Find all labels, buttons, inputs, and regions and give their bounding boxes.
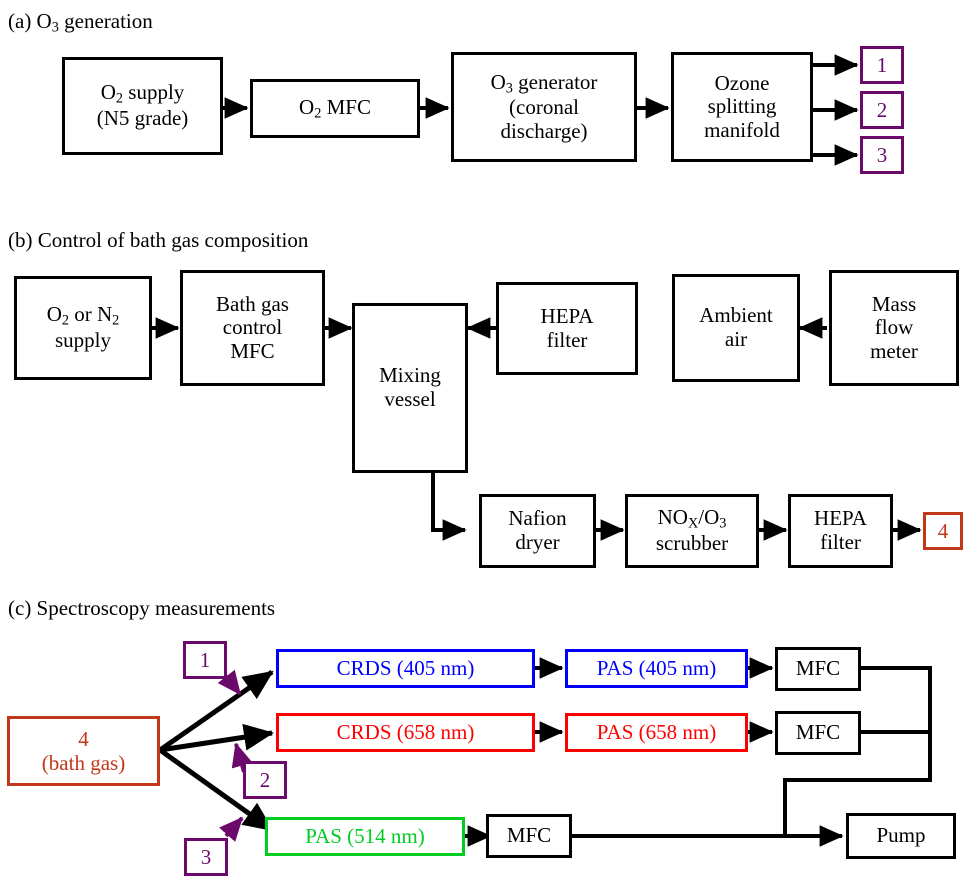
node-c-2-label: 2 (260, 768, 271, 793)
box-mass-flow-meter-label: Massflowmeter (835, 293, 953, 364)
box-nafion-dryer[interactable]: Nafiondryer (479, 494, 596, 568)
box-crds-405-label: CRDS (405 nm) (282, 657, 529, 681)
box-hepa-filter-2-label: HEPAfilter (794, 507, 887, 554)
node-a-3[interactable]: 3 (860, 136, 904, 174)
node-c-1[interactable]: 1 (183, 641, 227, 679)
box-bath-gas-source[interactable]: 4(bath gas) (7, 716, 160, 786)
box-o2-mfc[interactable]: O2 MFC (250, 79, 420, 138)
box-pump-label: Pump (852, 824, 950, 848)
node-injection-arrows (226, 676, 244, 836)
box-pas-405-label: PAS (405 nm) (571, 657, 742, 681)
box-bathgas-control-mfc[interactable]: Bath gascontrolMFC (180, 270, 325, 386)
box-mass-flow-meter[interactable]: Massflowmeter (829, 270, 959, 386)
exhaust-manifold-wires (570, 668, 930, 836)
source-split-arrows (160, 672, 272, 830)
node-b-4-label: 4 (938, 519, 949, 543)
box-mixing-vessel-label: Mixingvessel (358, 364, 462, 411)
box-mfc-658-label: MFC (781, 721, 855, 745)
box-pas-658[interactable]: PAS (658 nm) (565, 713, 748, 752)
box-ozone-splitting-manifold[interactable]: Ozonesplittingmanifold (671, 52, 813, 162)
node-c-3-label: 3 (201, 845, 212, 870)
box-o2-mfc-label: O2 MFC (256, 96, 414, 122)
node-c-3[interactable]: 3 (184, 838, 228, 876)
box-crds-658-label: CRDS (658 nm) (282, 721, 529, 745)
node-a-2-label: 2 (877, 98, 888, 123)
box-ambient-air[interactable]: Ambientair (672, 274, 800, 382)
figure-canvas: (a) O3 generation O2 supply(N5 grade) O2… (0, 0, 975, 884)
panel-a-manifold-outputs (813, 65, 857, 155)
box-pas-405[interactable]: PAS (405 nm) (565, 649, 748, 688)
box-pump[interactable]: Pump (846, 813, 956, 859)
box-o2-supply-label: O2 supply(N5 grade) (68, 81, 217, 130)
box-gas-supply[interactable]: O2 or N2supply (14, 276, 152, 380)
box-o3-generator-label: O3 generator(coronaldischarge) (457, 71, 631, 144)
box-o2-supply[interactable]: O2 supply(N5 grade) (62, 57, 223, 155)
box-bath-gas-source-label: 4(bath gas) (42, 727, 125, 775)
box-mfc-658[interactable]: MFC (775, 711, 861, 755)
node-a-1-label: 1 (877, 53, 888, 78)
node-b-4[interactable]: 4 (923, 512, 963, 550)
box-nafion-dryer-label: Nafiondryer (485, 507, 590, 554)
box-hepa-filter-1-label: HEPAfilter (502, 305, 632, 352)
box-crds-405[interactable]: CRDS (405 nm) (276, 649, 535, 688)
box-gas-supply-label: O2 or N2supply (20, 303, 146, 352)
box-pas-514-label: PAS (514 nm) (271, 825, 459, 849)
box-ambient-air-label: Ambientair (678, 304, 794, 351)
panel-c-row-arrows (465, 668, 772, 836)
node-c-1-label: 1 (200, 648, 211, 673)
box-mfc-405[interactable]: MFC (775, 647, 861, 691)
box-mfc-514[interactable]: MFC (486, 814, 572, 858)
box-crds-658[interactable]: CRDS (658 nm) (276, 713, 535, 752)
node-a-2[interactable]: 2 (860, 91, 904, 129)
box-nox-o3-scrubber[interactable]: NOX/O3scrubber (625, 494, 759, 568)
panel-b-title: (b) Control of bath gas composition (8, 230, 308, 251)
node-a-3-label: 3 (877, 143, 888, 168)
mixing-to-nafion-wire (433, 472, 455, 530)
box-hepa-filter-2[interactable]: HEPAfilter (788, 494, 893, 568)
node-a-1[interactable]: 1 (860, 46, 904, 84)
box-pas-514[interactable]: PAS (514 nm) (265, 817, 465, 856)
panel-a-title: (a) O3 generation (8, 11, 153, 35)
box-bathgas-control-mfc-label: Bath gascontrolMFC (186, 293, 319, 364)
box-ozone-splitting-manifold-label: Ozonesplittingmanifold (677, 72, 807, 143)
box-mfc-514-label: MFC (492, 824, 566, 848)
box-hepa-filter-1[interactable]: HEPAfilter (496, 282, 638, 375)
box-pas-658-label: PAS (658 nm) (571, 721, 742, 745)
box-nox-o3-scrubber-label: NOX/O3scrubber (631, 506, 753, 555)
panel-c-title: (c) Spectroscopy measurements (8, 598, 275, 619)
box-o3-generator[interactable]: O3 generator(coronaldischarge) (451, 52, 637, 162)
node-c-2[interactable]: 2 (243, 761, 287, 799)
box-mixing-vessel[interactable]: Mixingvessel (352, 303, 468, 473)
box-mfc-405-label: MFC (781, 657, 855, 681)
